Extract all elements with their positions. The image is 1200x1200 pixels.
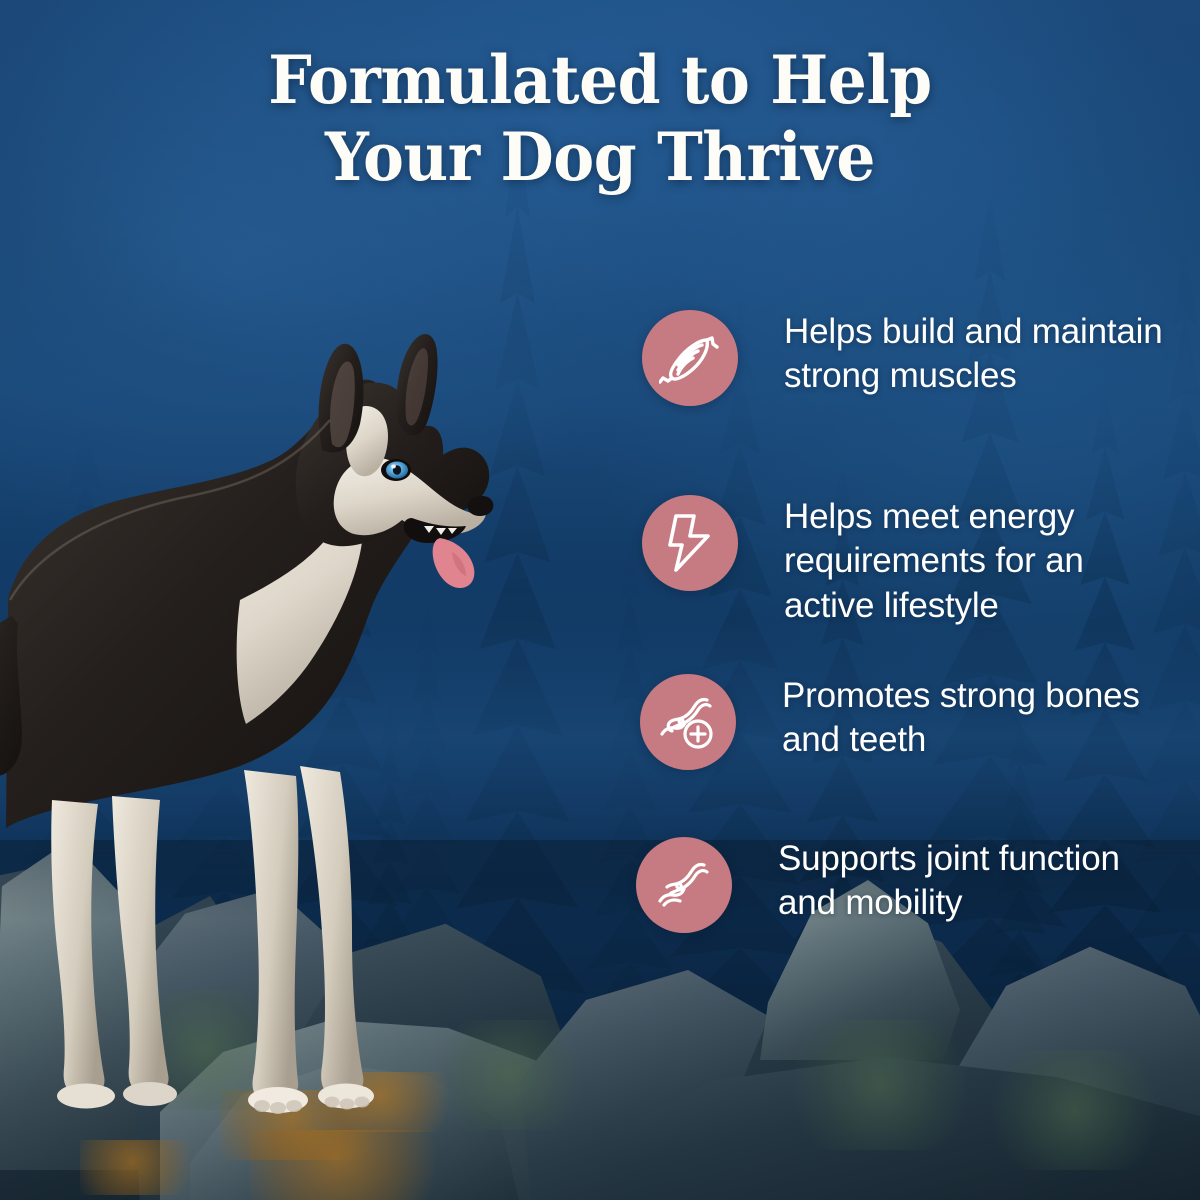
headline-line-2: Your Dog Thrive xyxy=(42,119,1158,196)
benefit-item-bones: Promotes strong bones and teeth xyxy=(640,674,1180,770)
benefit-label: Helps build and maintain strong muscles xyxy=(784,310,1180,399)
lightning-bolt-icon xyxy=(662,512,718,574)
benefit-icon-badge xyxy=(642,495,738,591)
muscle-icon xyxy=(659,327,721,389)
benefit-label: Promotes strong bones and teeth xyxy=(782,674,1180,763)
page-title: Formulated to Help Your Dog Thrive xyxy=(42,42,1158,196)
benefit-label: Helps meet energy requirements for an ac… xyxy=(784,495,1180,628)
joint-icon xyxy=(652,853,716,917)
marketing-poster: Formulated to Help Your Dog Thrive Helps… xyxy=(0,0,1200,1200)
headline-line-1: Formulated to Help xyxy=(268,41,931,119)
benefit-icon-badge xyxy=(636,837,732,933)
husky-dog-photo xyxy=(0,300,520,1150)
bone-plus-icon xyxy=(656,690,720,754)
benefit-icon-badge xyxy=(640,674,736,770)
benefit-item-energy: Helps meet energy requirements for an ac… xyxy=(642,495,1180,628)
benefit-item-joints: Supports joint function and mobility xyxy=(636,837,1178,933)
benefit-icon-badge xyxy=(642,310,738,406)
benefit-item-muscle: Helps build and maintain strong muscles xyxy=(642,310,1180,406)
benefit-label: Supports joint function and mobility xyxy=(778,837,1178,926)
